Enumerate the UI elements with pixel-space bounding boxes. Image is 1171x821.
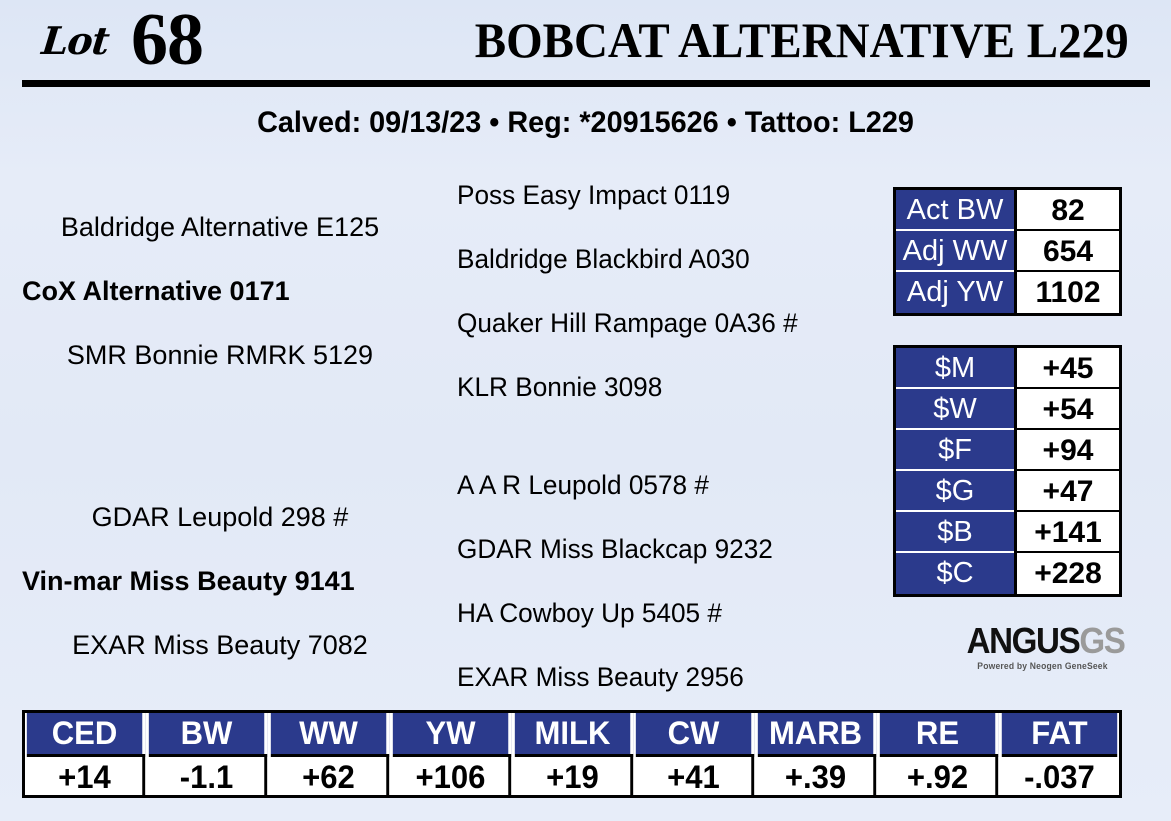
lot-card: Lot 68 BOBCAT ALTERNATIVE L229 Calved: 0… [0,0,1171,821]
index-label-w: $W [896,389,1014,430]
weights-table: Act BW 82 Adj WW 654 Adj YW 1102 [893,187,1122,316]
card-header: Lot 68 BOBCAT ALTERNATIVE L229 [0,0,1171,92]
epd-value-re: +.92 [880,754,998,795]
angus-logo-main: ANGUS [967,620,1080,661]
table-row: $G +47 [896,471,1119,512]
epd-header-fat: FAT [1002,713,1117,754]
dam-sire: GDAR Leupold 298 # [0,502,440,533]
epd-header-milk: MILK [514,713,632,754]
angus-wordmark: ANGUSGS [967,622,1119,660]
epd-value-marb: +.39 [758,754,876,795]
table-row: Adj YW 1102 [896,272,1119,313]
epd-value-cw: +41 [636,754,754,795]
index-value-m: +45 [1014,348,1119,389]
table-row: $C +228 [896,553,1119,594]
lot-number: 68 [131,3,203,77]
epd-table: CED BW WW YW MILK CW MARB RE FAT +14 -1.… [22,710,1122,798]
sire-dam-sire: Quaker Hill Rampage 0A36 # [457,308,798,339]
dollar-index-table: $M +45 $W +54 $F +94 $G +47 $B +141 $C +… [893,345,1122,597]
index-label-c: $C [896,553,1014,594]
angus-logo-suffix: GS [1079,620,1124,661]
index-value-f: +94 [1014,430,1119,471]
stat-label-adj-yw: Adj YW [896,272,1014,313]
table-row: $M +45 [896,348,1119,389]
sire-dam-dam: KLR Bonnie 3098 [457,372,662,403]
index-label-f: $F [896,430,1014,471]
sire-sire-dam: Baldridge Blackbird A030 [457,244,750,275]
epd-header-row: CED BW WW YW MILK CW MARB RE FAT [25,713,1119,754]
stat-value-act-bw: 82 [1014,190,1119,231]
page-title: BOBCAT ALTERNATIVE L229 [475,14,1129,67]
epd-value-ww: +62 [271,754,389,795]
dam: Vin-mar Miss Beauty 9141 [0,566,462,597]
index-label-m: $M [896,348,1014,389]
angus-logo-tagline: Powered by Neogen GeneSeek [964,661,1121,671]
index-value-c: +228 [1014,553,1119,594]
epd-value-row: +14 -1.1 +62 +106 +19 +41 +.39 +.92 -.03… [25,754,1119,795]
dam-dam: EXAR Miss Beauty 7082 [0,630,440,661]
stat-label-adj-ww: Adj WW [896,231,1014,272]
table-row: $W +54 [896,389,1119,430]
epd-value-yw: +106 [393,754,511,795]
epd-header-marb: MARB [758,713,876,754]
sire-sire-sire: Poss Easy Impact 0119 [457,180,730,211]
index-label-g: $G [896,471,1014,512]
angus-gs-logo: ANGUSGS Powered by Neogen GeneSeek [960,622,1125,684]
epd-header-ww: WW [271,713,389,754]
dam-sire-dam: GDAR Miss Blackcap 9232 [457,534,773,565]
epd-header-cw: CW [636,713,754,754]
epd-value-ced: +14 [27,754,145,795]
index-label-b: $B [896,512,1014,553]
sire-dam: SMR Bonnie RMRK 5129 [0,340,440,371]
sire: CoX Alternative 0171 [0,276,462,307]
epd-header-yw: YW [393,713,511,754]
table-row: Adj WW 654 [896,231,1119,272]
stat-value-adj-yw: 1102 [1014,272,1119,313]
dam-dam-dam: EXAR Miss Beauty 2956 [457,662,744,693]
table-row: Act BW 82 [896,190,1119,231]
dam-sire-sire: A A R Leupold 0578 # [457,470,709,501]
epd-value-fat: -.037 [1002,754,1117,795]
sire-sire: Baldridge Alternative E125 [0,212,440,243]
index-value-g: +47 [1014,471,1119,512]
epd-header-re: RE [880,713,998,754]
epd-header-bw: BW [149,713,267,754]
table-row: $B +141 [896,512,1119,553]
stat-label-act-bw: Act BW [896,190,1014,231]
header-divider [22,80,1150,87]
registration-subtitle: Calved: 09/13/23 • Reg: *20915626 • Tatt… [23,106,1147,140]
epd-value-bw: -1.1 [149,754,267,795]
dam-dam-sire: HA Cowboy Up 5405 # [457,598,722,629]
epd-header-ced: CED [27,713,145,754]
index-value-w: +54 [1014,389,1119,430]
index-value-b: +141 [1014,512,1119,553]
pedigree-chart: Baldridge Alternative E125 CoX Alternati… [0,160,880,700]
stat-value-adj-ww: 654 [1014,231,1119,272]
lot-label: Lot [40,18,111,63]
epd-value-milk: +19 [514,754,632,795]
table-row: $F +94 [896,430,1119,471]
